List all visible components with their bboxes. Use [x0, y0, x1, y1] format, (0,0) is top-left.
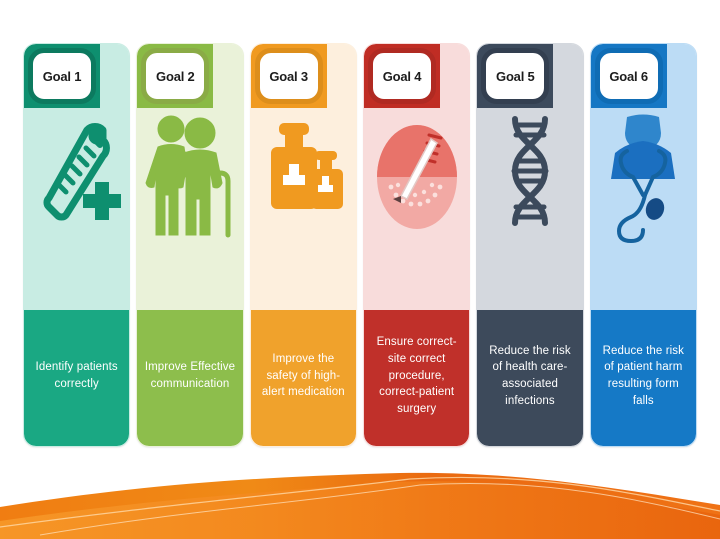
goal-card-6-body: Reduce the risk of patient harm resultin…: [591, 44, 696, 446]
goal-card-4[interactable]: Ensure correct-site correct procedure, c…: [364, 44, 469, 446]
slide-canvas: Identify patients correctly Goal 1: [0, 0, 720, 539]
goal-card-3[interactable]: Improve the safety of high-alert medicat…: [251, 44, 356, 446]
goal-card-4-badge-label: Goal 4: [383, 69, 422, 84]
goal-card-5-text: Reduce the risk of health care-associate…: [483, 343, 576, 410]
goal-card-2-badge-label: Goal 2: [156, 69, 195, 84]
goal-card-4-body: Ensure correct-site correct procedure, c…: [364, 44, 469, 446]
goal-card-3-badge[interactable]: Goal 3: [255, 48, 323, 104]
goal-card-2-badge[interactable]: Goal 2: [141, 48, 209, 104]
goal-card-6-text-panel: Reduce the risk of patient harm resultin…: [591, 310, 696, 446]
goal-card-6[interactable]: Reduce the risk of patient harm resultin…: [591, 44, 696, 446]
goal-card-1-text-panel: Identify patients correctly: [24, 310, 129, 446]
doctor-stethoscope-icon: [596, 107, 690, 247]
goal-card-5[interactable]: Reduce the risk of health care-associate…: [477, 44, 582, 446]
goal-card-4-badge[interactable]: Goal 4: [368, 48, 436, 104]
goal-card-6-badge[interactable]: Goal 6: [595, 48, 663, 104]
medicine-bottles-icon: [256, 107, 350, 247]
goal-card-4-text-panel: Ensure correct-site correct procedure, c…: [364, 310, 469, 446]
goal-card-1-text: Identify patients correctly: [30, 359, 123, 392]
surgical-incision-scalpel-icon: [370, 107, 464, 247]
thermometer-cross-icon: [30, 107, 124, 247]
goal-card-2-body: Improve Effective communication: [137, 44, 242, 446]
goal-card-1-badge[interactable]: Goal 1: [28, 48, 96, 104]
goal-card-5-text-panel: Reduce the risk of health care-associate…: [477, 310, 582, 446]
goal-card-3-badge-label: Goal 3: [269, 69, 308, 84]
orange-wave-decoration: [0, 449, 720, 539]
goals-card-row: Identify patients correctly Goal 1: [24, 44, 696, 446]
goal-card-6-badge-label: Goal 6: [609, 69, 648, 84]
goal-card-5-badge[interactable]: Goal 5: [481, 48, 549, 104]
goal-card-2-text: Improve Effective communication: [143, 359, 236, 392]
goal-card-3-body: Improve the safety of high-alert medicat…: [251, 44, 356, 446]
goal-card-6-text: Reduce the risk of patient harm resultin…: [597, 343, 690, 410]
goal-card-4-text: Ensure correct-site correct procedure, c…: [370, 334, 463, 417]
caregiver-elderly-icon: [143, 107, 237, 247]
dna-helix-icon: [483, 107, 577, 247]
goal-card-1-body: Identify patients correctly: [24, 44, 129, 446]
goal-card-5-body: Reduce the risk of health care-associate…: [477, 44, 582, 446]
goal-card-2[interactable]: Improve Effective communication Goal 2: [137, 44, 242, 446]
goal-card-5-badge-label: Goal 5: [496, 69, 535, 84]
goal-card-3-text-panel: Improve the safety of high-alert medicat…: [251, 310, 356, 446]
goal-card-1[interactable]: Identify patients correctly Goal 1: [24, 44, 129, 446]
goal-card-1-badge-label: Goal 1: [43, 69, 82, 84]
goal-card-2-text-panel: Improve Effective communication: [137, 310, 242, 446]
goal-card-3-text: Improve the safety of high-alert medicat…: [257, 351, 350, 401]
